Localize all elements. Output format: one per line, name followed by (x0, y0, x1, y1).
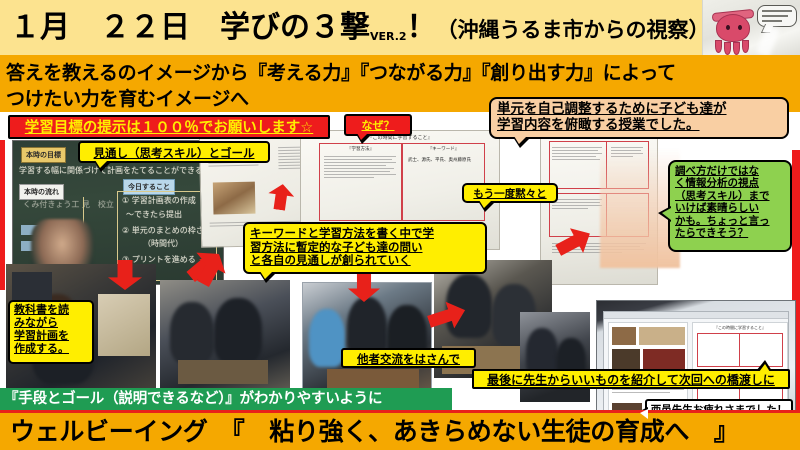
callout-unit-adjustment: 単元を自己調整するために子ども達が 学習内容を俯瞰する授業でした。 (489, 97, 789, 139)
photo-students-group (160, 280, 290, 388)
worksheet-cell-keyword: 『キーワード』 武士、源氏、平氏、奥州藤原氏 (402, 143, 485, 221)
mascot-leg (715, 40, 722, 53)
callout-peer-exchange: 他者交流をはさんで (341, 348, 476, 368)
mascot-bubble-lines (762, 10, 792, 25)
photo-person (309, 309, 345, 367)
board-chalk-goal: 学習する幅に関係づけて計画をたてることができる (19, 165, 219, 177)
green-summary-bar: 『手段とゴール（説明できるなど）』がわかりやすいように (0, 388, 452, 410)
title-version: VER.2 (370, 30, 407, 43)
statement-line-1: 答えを教えるのイメージから『考える力』『つながる力』『創り出す力』によって (6, 58, 676, 85)
sheet-text-lines (324, 156, 396, 180)
mascot-eye-left (726, 25, 730, 30)
wellbeing-text: ウェルビーイング 『 粘り強く、あきらめない生徒の育成へ 』 (10, 413, 770, 450)
title-main: １月 ２２日 学びの３撃 (10, 10, 370, 45)
browser-toolbar (604, 312, 788, 319)
photo-desk (178, 360, 268, 384)
mascot-speech-bubble (757, 5, 797, 27)
red-accent-bar-left (0, 140, 5, 290)
photo-desk-item (12, 272, 52, 300)
worksheet-keyword-values: 武士、源氏、平氏、奥州藤原氏 (408, 157, 471, 163)
board-label-flow: 本時の流れ (19, 184, 64, 200)
callout-why: なぜ？ (344, 114, 412, 136)
callout-textbook-plan: 教科書を読 みながら 学習計画を 作成する。 (8, 300, 94, 364)
mascot-leg (724, 42, 731, 55)
photo-textbook (98, 294, 150, 356)
callout-silent-again: もう一度黙々と (462, 183, 558, 203)
slide-canvas: １月 ２２日 学びの３撃VER.2！（沖縄うるま市からの視察） 答えを教えるのイ… (0, 0, 800, 450)
mascot-leg (742, 40, 749, 53)
photo-glare (756, 24, 780, 56)
callout-teacher-bridge: 最後に先生からいいものを紹介して次回への橋渡しに (472, 369, 790, 389)
sheet-text-lines (552, 199, 602, 211)
octopus-mascot-icon (702, 0, 800, 56)
board-label-goal: 本時の目標 (21, 147, 66, 163)
worksheet-cell-method: 『学習方法』 (319, 143, 402, 221)
doc-thumb (612, 327, 636, 345)
sheet-image (213, 182, 256, 215)
board-chalk-flow: くみ付きょう工 見 校立 (23, 199, 114, 211)
title-exclamation: ！ (407, 10, 437, 45)
doc-thumb (639, 327, 685, 345)
board-chalk-1: ① 学習計画表の作成 (122, 195, 196, 207)
title-bar: １月 ２２日 学びの３撃VER.2！（沖縄うるま市からの視察） (0, 0, 800, 55)
title-subtitle: （沖縄うるま市からの視察） (437, 18, 710, 42)
callout-research-viewpoint: 調べ方だけではな く情報分析の視点 （思考スキル）まで いけば素晴らしい かも。… (668, 160, 792, 252)
doc-cell (697, 333, 740, 367)
worksheet-col-method: 『学習方法』 (320, 146, 401, 152)
doc-title: 『この時間に学習すること』 (714, 325, 766, 331)
mascot-head (716, 14, 750, 42)
photo-person (214, 298, 262, 364)
board-chalk-1b: ～できたら提出 (126, 209, 182, 221)
callout-outlook-goal: 見通し（思考スキル）とゴール (78, 141, 270, 163)
photo-person (170, 302, 214, 364)
page-title: １月 ２２日 学びの３撃VER.2！（沖縄うるま市からの視察） (10, 4, 710, 52)
board-chalk-2: ② 単元のまとめの枠さ (122, 225, 204, 237)
callout-goal-presentation: 学習目標の提示は１００％でお願いします☆ (8, 115, 330, 139)
mascot-leg (733, 42, 740, 55)
mascot-eye-right (738, 25, 742, 30)
sheet-text-lines (552, 147, 602, 162)
callout-keyword-method: キーワードと学習方法を書く中で学 習方法に暫定的な子ども達の問い と各自の見通し… (243, 222, 487, 274)
board-chalk-2b: （時間代） (143, 238, 183, 250)
worksheet-col-keyword: 『キーワード』 (403, 146, 484, 152)
statement-line-2: つけたい力を育むイメージへ (6, 84, 249, 111)
